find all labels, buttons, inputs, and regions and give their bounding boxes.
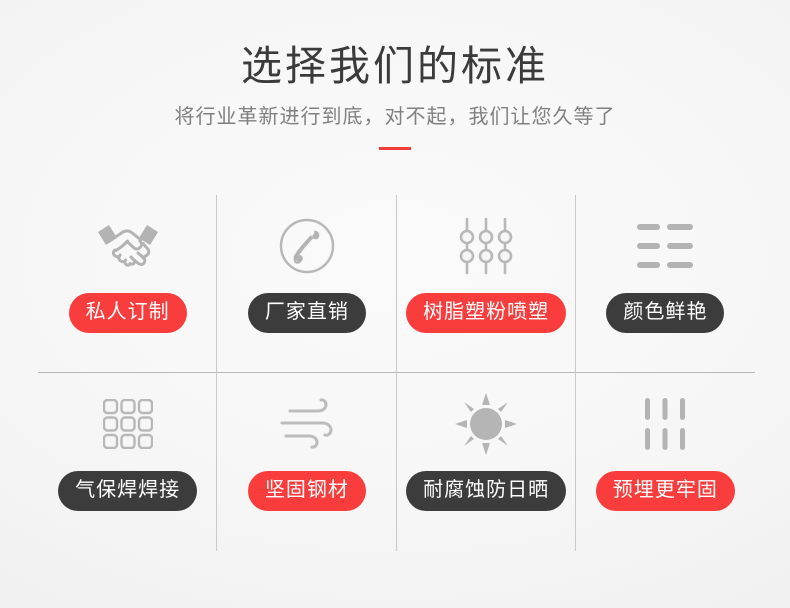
feature-badge-4[interactable]: 颜色鲜艳 [606,293,724,333]
feature-cell-1: 私人订制 [38,195,217,373]
sliders-icon [457,195,515,293]
feature-badge-7[interactable]: 耐腐蚀防日晒 [406,471,566,511]
grid-squares-icon [103,373,153,471]
bars-icon [644,373,686,471]
feature-badge-3[interactable]: 树脂塑粉喷塑 [406,293,566,333]
sun-icon [455,373,517,471]
title-underline-rule [379,147,411,150]
feature-grid: 私人订制 厂家直销 [38,195,755,551]
feature-cell-5: 气保焊焊接 [38,373,217,551]
feature-badge-5[interactable]: 气保焊焊接 [58,471,197,511]
feature-cell-2: 厂家直销 [217,195,396,373]
feature-cell-4: 颜色鲜艳 [576,195,755,373]
dashes-icon [637,195,693,293]
page-header: 选择我们的标准 将行业革新进行到底，对不起，我们让您久等了 [0,0,790,150]
feature-cell-7: 耐腐蚀防日晒 [397,373,576,551]
feature-badge-6[interactable]: 坚固钢材 [248,471,366,511]
promo-feature-page: 选择我们的标准 将行业革新进行到底，对不起，我们让您久等了 [0,0,790,608]
page-subtitle: 将行业革新进行到底，对不起，我们让您久等了 [0,92,790,130]
feature-cell-8: 预埋更牢固 [576,373,755,551]
handshake-icon [93,195,163,293]
feature-cell-3: 树脂塑粉喷塑 [397,195,576,373]
wind-icon [276,373,338,471]
phone-circle-icon [278,195,336,293]
page-title: 选择我们的标准 [0,0,790,92]
feature-badge-8[interactable]: 预埋更牢固 [596,471,735,511]
feature-badge-2[interactable]: 厂家直销 [248,293,366,333]
feature-cell-6: 坚固钢材 [217,373,396,551]
feature-badge-1[interactable]: 私人订制 [69,293,187,333]
